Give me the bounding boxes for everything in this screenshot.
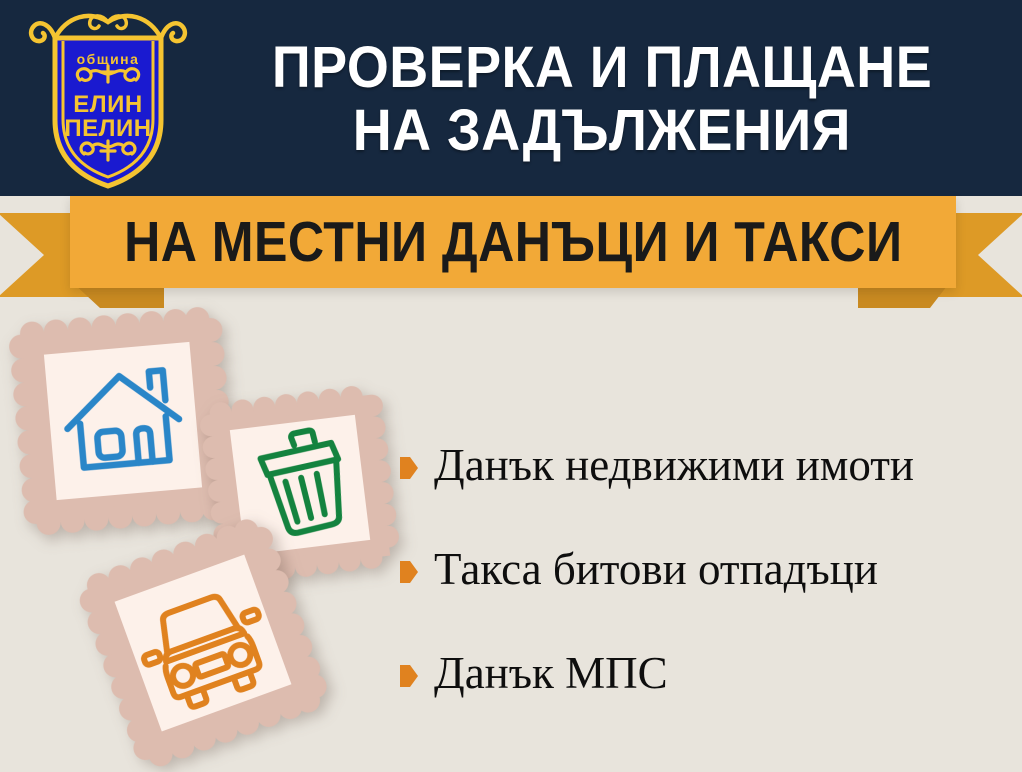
municipality-emblem: община ЕЛИН ПЕЛИН [22,8,194,190]
poster-canvas: община ЕЛИН ПЕЛИН ПРОВЕРКА И ПЛАЩАНЕ НА … [0,0,1022,772]
list-item-label: Данък недвижими имоти [434,442,914,489]
list-item-label: Данък МПС [434,650,668,697]
list-item: Данък недвижими имоти [400,414,1014,518]
ribbon-banner: НА МЕСТНИ ДАНЪЦИ И ТАКСИ [0,196,1022,312]
pentagon-arrow-bullet-icon [400,457,418,479]
pentagon-arrow-bullet-icon [400,561,418,583]
ribbon-main-band: НА МЕСТНИ ДАНЪЦИ И ТАКСИ [70,196,956,288]
emblem-name-line2: ПЕЛИН [64,115,151,142]
coat-of-arms-shield-icon: община ЕЛИН ПЕЛИН [22,8,194,190]
header-title: ПРОВЕРКА И ПЛАЩАНЕ НА ЗАДЪЛЖЕНИЯ [196,14,1008,186]
tax-type-list: Данък недвижими имоти Такса битови отпад… [400,414,1014,726]
ribbon-text: НА МЕСТНИ ДАНЪЦИ И ТАКСИ [124,214,902,271]
header-title-line-2: НА ЗАДЪЛЖЕНИЯ [353,100,851,163]
emblem-name-line1: ЕЛИН [73,91,142,118]
list-item: Данък МПС [400,622,1014,726]
pentagon-arrow-bullet-icon [400,665,418,687]
list-item-label: Такса битови отпадъци [434,546,878,593]
header-title-line-1: ПРОВЕРКА И ПЛАЩАНЕ [272,37,932,100]
list-item: Такса битови отпадъци [400,518,1014,622]
